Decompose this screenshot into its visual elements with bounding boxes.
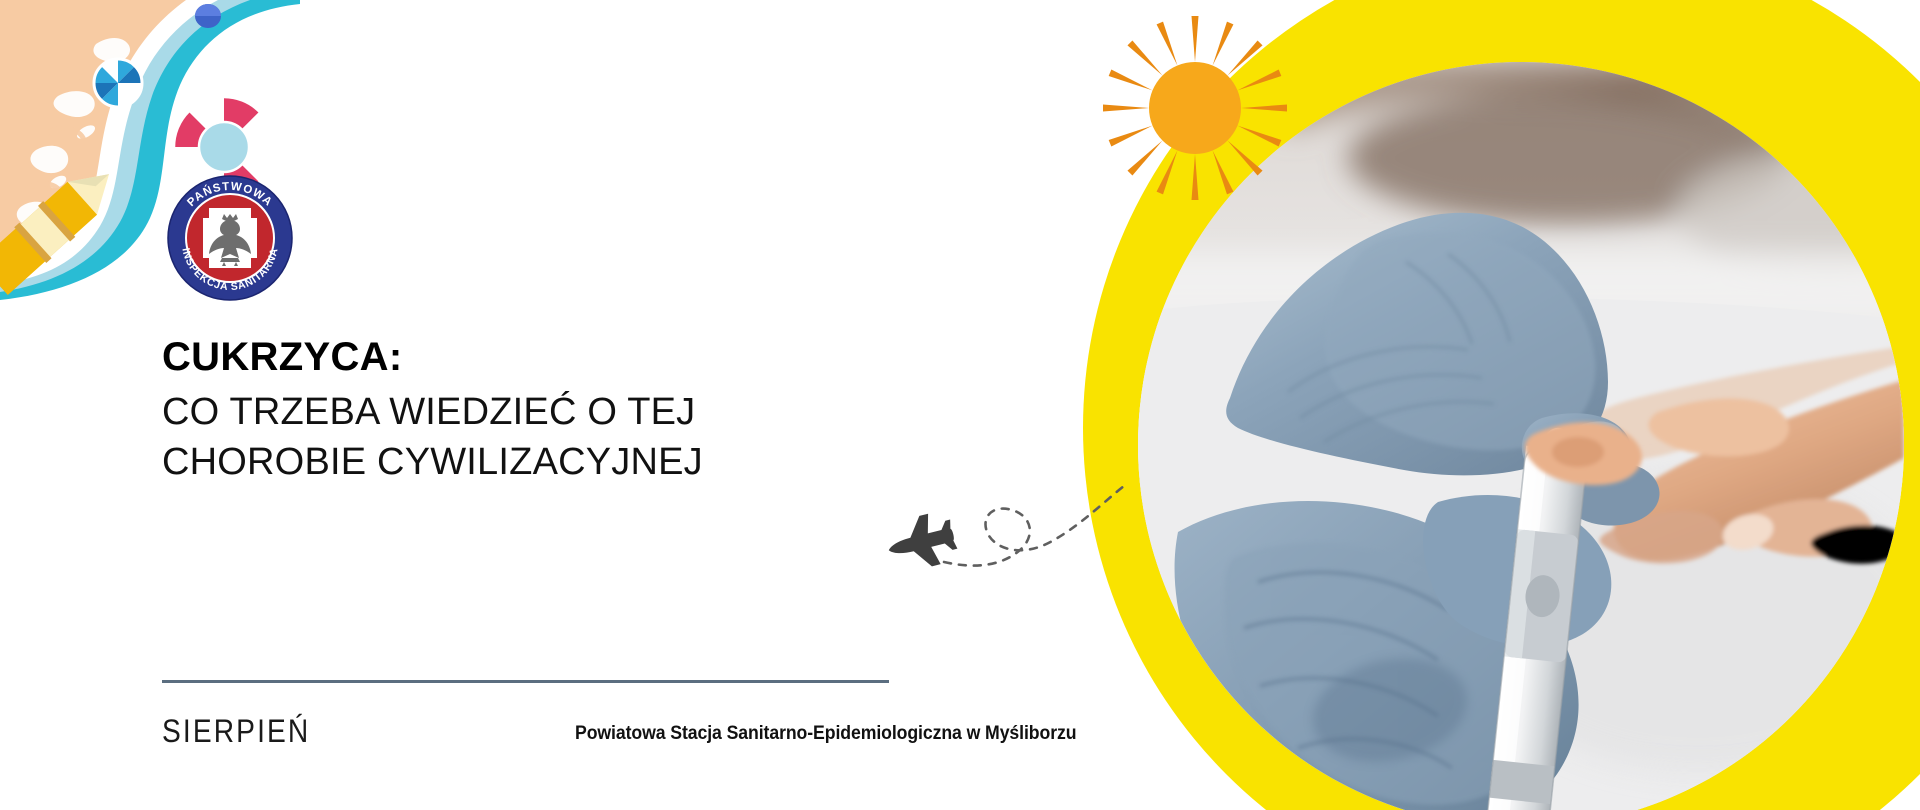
sun-icon xyxy=(1095,8,1295,208)
airplane-icon xyxy=(884,478,1134,593)
beach-shell xyxy=(195,4,221,28)
plane-silhouette xyxy=(884,509,960,576)
organization-label: Powiatowa Stacja Sanitarno-Epidemiologic… xyxy=(575,723,1076,745)
beach-sand xyxy=(0,0,186,272)
panstwowa-inspekcja-sanitarna-emblem: PAŃSTWOWA INSPEKCJA SANITARNA xyxy=(160,168,300,308)
headline-line-1: CUKRZYCA: xyxy=(162,333,922,382)
plane-trail-path xyxy=(944,486,1124,566)
headline-line-2: CO TRZEBA WIEDZIEĆ O TEJ xyxy=(162,387,922,437)
beach-towel xyxy=(0,156,125,296)
page-title: CUKRZYCA: CO TRZEBA WIEDZIEĆ O TEJ CHORO… xyxy=(162,333,922,487)
headline-line-3: CHOROBIE CYWILIZACYJNEJ xyxy=(162,437,922,487)
footer-divider xyxy=(162,680,889,683)
month-label: SIERPIEŃ xyxy=(162,713,310,750)
sun-disc xyxy=(1149,62,1241,154)
beach-ball xyxy=(94,59,142,107)
poster-canvas: PAŃSTWOWA INSPEKCJA SANITARNA CUKRZYCA: … xyxy=(0,0,1920,810)
beach-foam-details xyxy=(17,38,130,227)
